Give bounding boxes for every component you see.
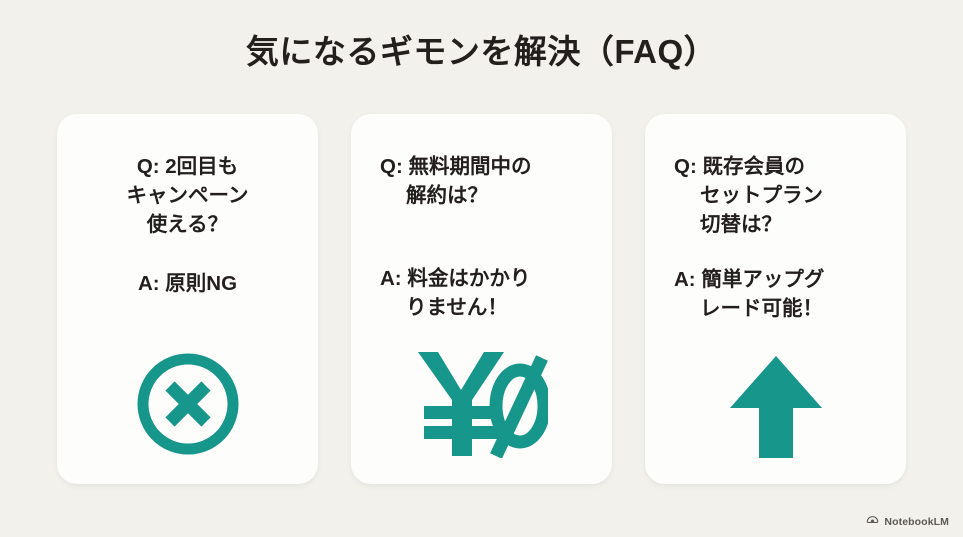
card-icon-area <box>645 340 906 458</box>
question-line: 使える？ <box>71 210 304 239</box>
question-text: Q: 無料期間中の 解約は？ <box>351 152 612 210</box>
faq-card-row: Q: 2回目も キャンペーン 使える？ A: 原則NG Q: 無料期間中の 解約… <box>57 114 906 484</box>
notebooklm-watermark: NotebookLM <box>866 515 949 528</box>
faq-card[interactable]: Q: 無料期間中の 解約は？ A: 料金はかかり りません！ <box>351 114 612 484</box>
page-title: 気になるギモンを解決（FAQ） <box>0 32 963 72</box>
answer-line: A: 料金はかかり <box>380 264 602 293</box>
faq-card[interactable]: Q: 2回目も キャンペーン 使える？ A: 原則NG <box>57 114 318 484</box>
slide-canvas: 気になるギモンを解決（FAQ） Q: 2回目も キャンペーン 使える？ A: 原… <box>0 0 963 537</box>
card-icon-area <box>351 340 612 458</box>
question-text: Q: 2回目も キャンペーン 使える？ <box>57 152 318 239</box>
question-line: 解約は？ <box>380 181 602 210</box>
question-line: Q: 2回目も <box>71 152 304 181</box>
answer-line: りません！ <box>380 293 602 322</box>
answer-text: A: 簡単アップグ レード可能！ <box>645 265 906 323</box>
question-line: セットプラン <box>674 181 896 210</box>
circle-x-icon <box>134 350 242 458</box>
answer-line: A: 原則NG <box>71 269 304 298</box>
answer-text: A: 原則NG <box>57 269 318 298</box>
question-line: Q: 既存会員の <box>674 152 896 181</box>
arrow-up-icon <box>729 354 823 458</box>
question-line: キャンペーン <box>71 181 304 210</box>
watermark-label: NotebookLM <box>884 516 949 528</box>
yen-zero-icon <box>416 346 548 458</box>
question-line: Q: 無料期間中の <box>380 152 602 181</box>
answer-line: レード可能！ <box>674 294 896 323</box>
answer-text: A: 料金はかかり りません！ <box>351 264 612 322</box>
question-line: 切替は？ <box>674 210 896 239</box>
card-icon-area <box>57 340 318 458</box>
faq-card[interactable]: Q: 既存会員の セットプラン 切替は？ A: 簡単アップグ レード可能！ <box>645 114 906 484</box>
notebooklm-logo-icon <box>866 515 879 528</box>
answer-line: A: 簡単アップグ <box>674 265 896 294</box>
question-text: Q: 既存会員の セットプラン 切替は？ <box>645 152 906 239</box>
